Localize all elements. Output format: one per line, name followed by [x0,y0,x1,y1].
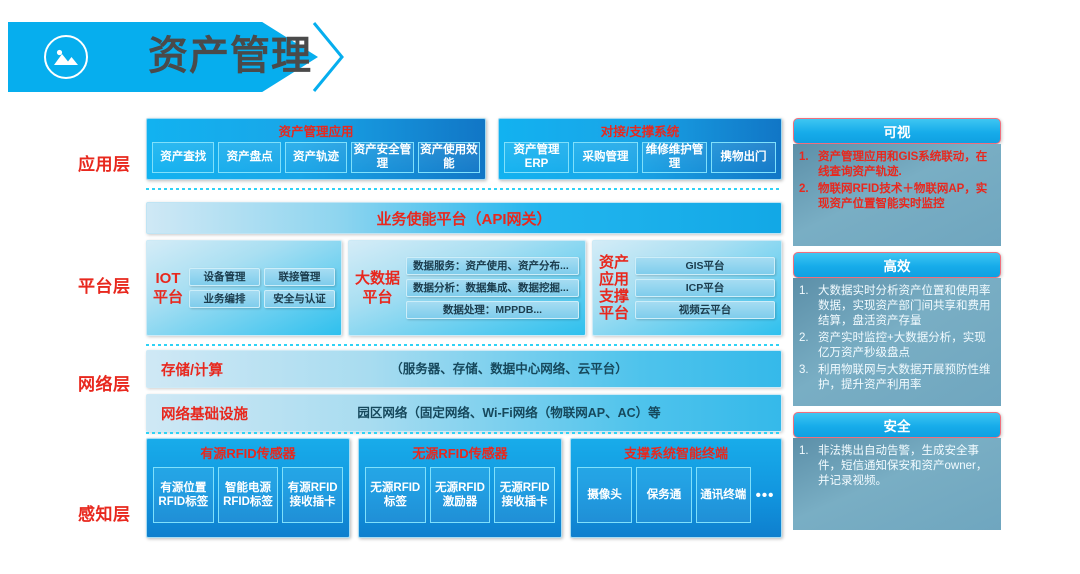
list-text: 资产管理应用和GIS系统联动，在线查询资产轨迹. [818,150,993,180]
row-label: 网络基础设施 [147,403,307,424]
chip-smart-power-rfid-tag[interactable]: 智能电源RFID标签 [218,467,279,523]
divider-application [146,188,782,190]
chip-comm-terminal[interactable]: 通讯终端 [696,467,751,523]
platform-iot[interactable]: IOT 平台 设备管理 联接管理 业务编排 安全与认证 [146,240,342,336]
list-number: 3. [799,363,813,393]
label-line: 大数据 [355,269,400,288]
list-item: 3. 利用物联网与大数据开展预防性维护，提升资产利用率 [799,363,993,393]
label-line: 平台 [599,305,629,322]
header-chevron-icon [312,22,352,92]
group-active-rfid-sensor[interactable]: 有源RFID传感器 有源位置RFID标签 智能电源RFID标签 有源RFID接收… [146,438,350,538]
panel-body: 1. 非法携出自动告警，生成安全事件，短信通知保安和资产owner，并记录视频。 [793,438,1001,530]
chip-asset-security[interactable]: 资产安全管理 [351,142,413,173]
row-value: （服务器、存储、数据中心网络、云平台） [307,362,781,377]
chip-active-location-rfid-tag[interactable]: 有源位置RFID标签 [153,467,214,523]
chip-security-pass[interactable]: 保务通 [636,467,691,523]
api-gateway-bar[interactable]: 业务使能平台（API网关） [146,202,782,234]
chip-asset-erp[interactable]: 资产管理ERP [504,142,569,173]
platform-asset-support-label: 资产 应用 支撑 平台 [593,254,635,322]
group-title: 支撑系统智能终端 [571,439,781,464]
architecture-diagram: 资产管理应用 资产查找 资产盘点 资产轨迹 资产安全管理 资产使用效能 对接/支… [146,118,782,540]
list-text: 大数据实时分析资产位置和使用率数据，实现资产部门间共享和费用结算，盘活资产存量 [818,284,993,329]
benefits-rail: 可视 1. 资产管理应用和GIS系统联动，在线查询资产轨迹. 2. 物联网RFI… [793,118,1001,558]
platform-bigdata-label: 大数据 平台 [349,269,406,307]
chip-device-management[interactable]: 设备管理 [189,268,260,286]
list-text: 非法携出自动告警，生成安全事件，短信通知保安和资产owner，并记录视频。 [818,444,993,489]
chip-passive-rfid-receiver-card[interactable]: 无源RFID接收插卡 [494,467,555,523]
panel-security: 安全 1. 非法携出自动告警，生成安全事件，短信通知保安和资产owner，并记录… [793,412,1001,530]
list-text: 资产实时监控+大数据分析，实现亿万资产秒级盘点 [818,331,993,361]
list-text: 物联网RFID技术＋物联网AP，实现资产位置智能实时监控 [818,182,993,212]
chip-service-orchestration[interactable]: 业务编排 [189,290,260,308]
panel-visibility: 可视 1. 资产管理应用和GIS系统联动，在线查询资产轨迹. 2. 物联网RFI… [793,118,1001,246]
row-label: 存储/计算 [147,359,307,380]
platform-iot-label: IOT 平台 [147,269,189,307]
platform-asset-support[interactable]: 资产 应用 支撑 平台 GIS平台 ICP平台 视频云平台 [592,240,782,336]
list-number: 1. [799,444,813,489]
panel-body: 1. 资产管理应用和GIS系统联动，在线查询资产轨迹. 2. 物联网RFID技术… [793,144,1001,246]
chip-maintenance[interactable]: 维修维护管理 [642,142,707,173]
page-title: 资产管理 [148,28,312,84]
chip-security-auth[interactable]: 安全与认证 [264,290,335,308]
chip-data-service[interactable]: 数据服务：资产使用、资产分布... [406,257,579,275]
chip-connection-management[interactable]: 联接管理 [264,268,335,286]
row-value: 园区网络（固定网络、Wi-Fi网络（物联网AP、AC）等 [307,406,781,421]
chip-gis-platform[interactable]: GIS平台 [635,257,775,275]
label-line: IOT [153,269,183,288]
group-title: 对接/支撑系统 [499,119,781,142]
platform-bigdata[interactable]: 大数据 平台 数据服务：资产使用、资产分布... 数据分析：数据集成、数据挖掘.… [348,240,586,336]
list-text: 利用物联网与大数据开展预防性维护，提升资产利用率 [818,363,993,393]
group-title: 资产管理应用 [147,119,485,142]
list-number: 1. [799,150,813,180]
chip-data-processing[interactable]: 数据处理：MPPDB... [406,301,579,319]
list-number: 2. [799,182,813,212]
panel-body: 1. 大数据实时分析资产位置和使用率数据，实现资产部门间共享和费用结算，盘活资产… [793,278,1001,406]
row-storage-compute[interactable]: 存储/计算 （服务器、存储、数据中心网络、云平台） [146,350,782,388]
list-item: 1. 非法携出自动告警，生成安全事件，短信通知保安和资产owner，并记录视频。 [799,444,993,489]
page-header: 资产管理 [0,0,1080,110]
chip-passive-rfid-tag[interactable]: 无源RFID标签 [365,467,426,523]
list-item: 2. 资产实时监控+大数据分析，实现亿万资产秒级盘点 [799,331,993,361]
chip-icp-platform[interactable]: ICP平台 [635,279,775,297]
group-asset-management-app[interactable]: 资产管理应用 资产查找 资产盘点 资产轨迹 资产安全管理 资产使用效能 [146,118,486,180]
chip-asset-search[interactable]: 资产查找 [152,142,214,173]
chip-camera[interactable]: 摄像头 [577,467,632,523]
row-network-infrastructure[interactable]: 网络基础设施 园区网络（固定网络、Wi-Fi网络（物联网AP、AC）等 [146,394,782,432]
group-integration-support-system[interactable]: 对接/支撑系统 资产管理ERP 采购管理 维修维护管理 携物出门 [498,118,782,180]
chip-asset-inventory[interactable]: 资产盘点 [218,142,280,173]
panel-efficiency: 高效 1. 大数据实时分析资产位置和使用率数据，实现资产部门间共享和费用结算，盘… [793,252,1001,406]
chip-asset-usage[interactable]: 资产使用效能 [418,142,480,173]
chip-video-cloud-platform[interactable]: 视频云平台 [635,301,775,319]
group-title: 无源RFID传感器 [359,439,561,464]
panel-title: 高效 [793,252,1001,278]
chip-active-rfid-receiver-card[interactable]: 有源RFID接收插卡 [282,467,343,523]
label-line: 资产 [599,254,629,271]
chip-asset-trace[interactable]: 资产轨迹 [285,142,347,173]
chip-procurement[interactable]: 采购管理 [573,142,638,173]
label-line: 平台 [153,288,183,307]
label-line: 平台 [355,288,400,307]
chip-carry-out[interactable]: 携物出门 [711,142,776,173]
list-number: 2. [799,331,813,361]
more-ellipsis-icon: ••• [755,467,775,523]
chip-passive-rfid-exciter[interactable]: 无源RFID激励器 [430,467,491,523]
panel-title: 可视 [793,118,1001,144]
group-title: 有源RFID传感器 [147,439,349,464]
list-item: 2. 物联网RFID技术＋物联网AP，实现资产位置智能实时监控 [799,182,993,212]
divider-platform [146,344,782,346]
list-item: 1. 资产管理应用和GIS系统联动，在线查询资产轨迹. [799,150,993,180]
divider-network [146,432,782,434]
panel-title: 安全 [793,412,1001,438]
image-icon [44,35,88,79]
list-number: 1. [799,284,813,329]
group-support-system-smart-terminal[interactable]: 支撑系统智能终端 摄像头 保务通 通讯终端 ••• [570,438,782,538]
chip-data-analysis[interactable]: 数据分析：数据集成、数据挖掘... [406,279,579,297]
label-line: 应用 [599,271,629,288]
label-line: 支撑 [599,288,629,305]
list-item: 1. 大数据实时分析资产位置和使用率数据，实现资产部门间共享和费用结算，盘活资产… [799,284,993,329]
group-passive-rfid-sensor[interactable]: 无源RFID传感器 无源RFID标签 无源RFID激励器 无源RFID接收插卡 [358,438,562,538]
